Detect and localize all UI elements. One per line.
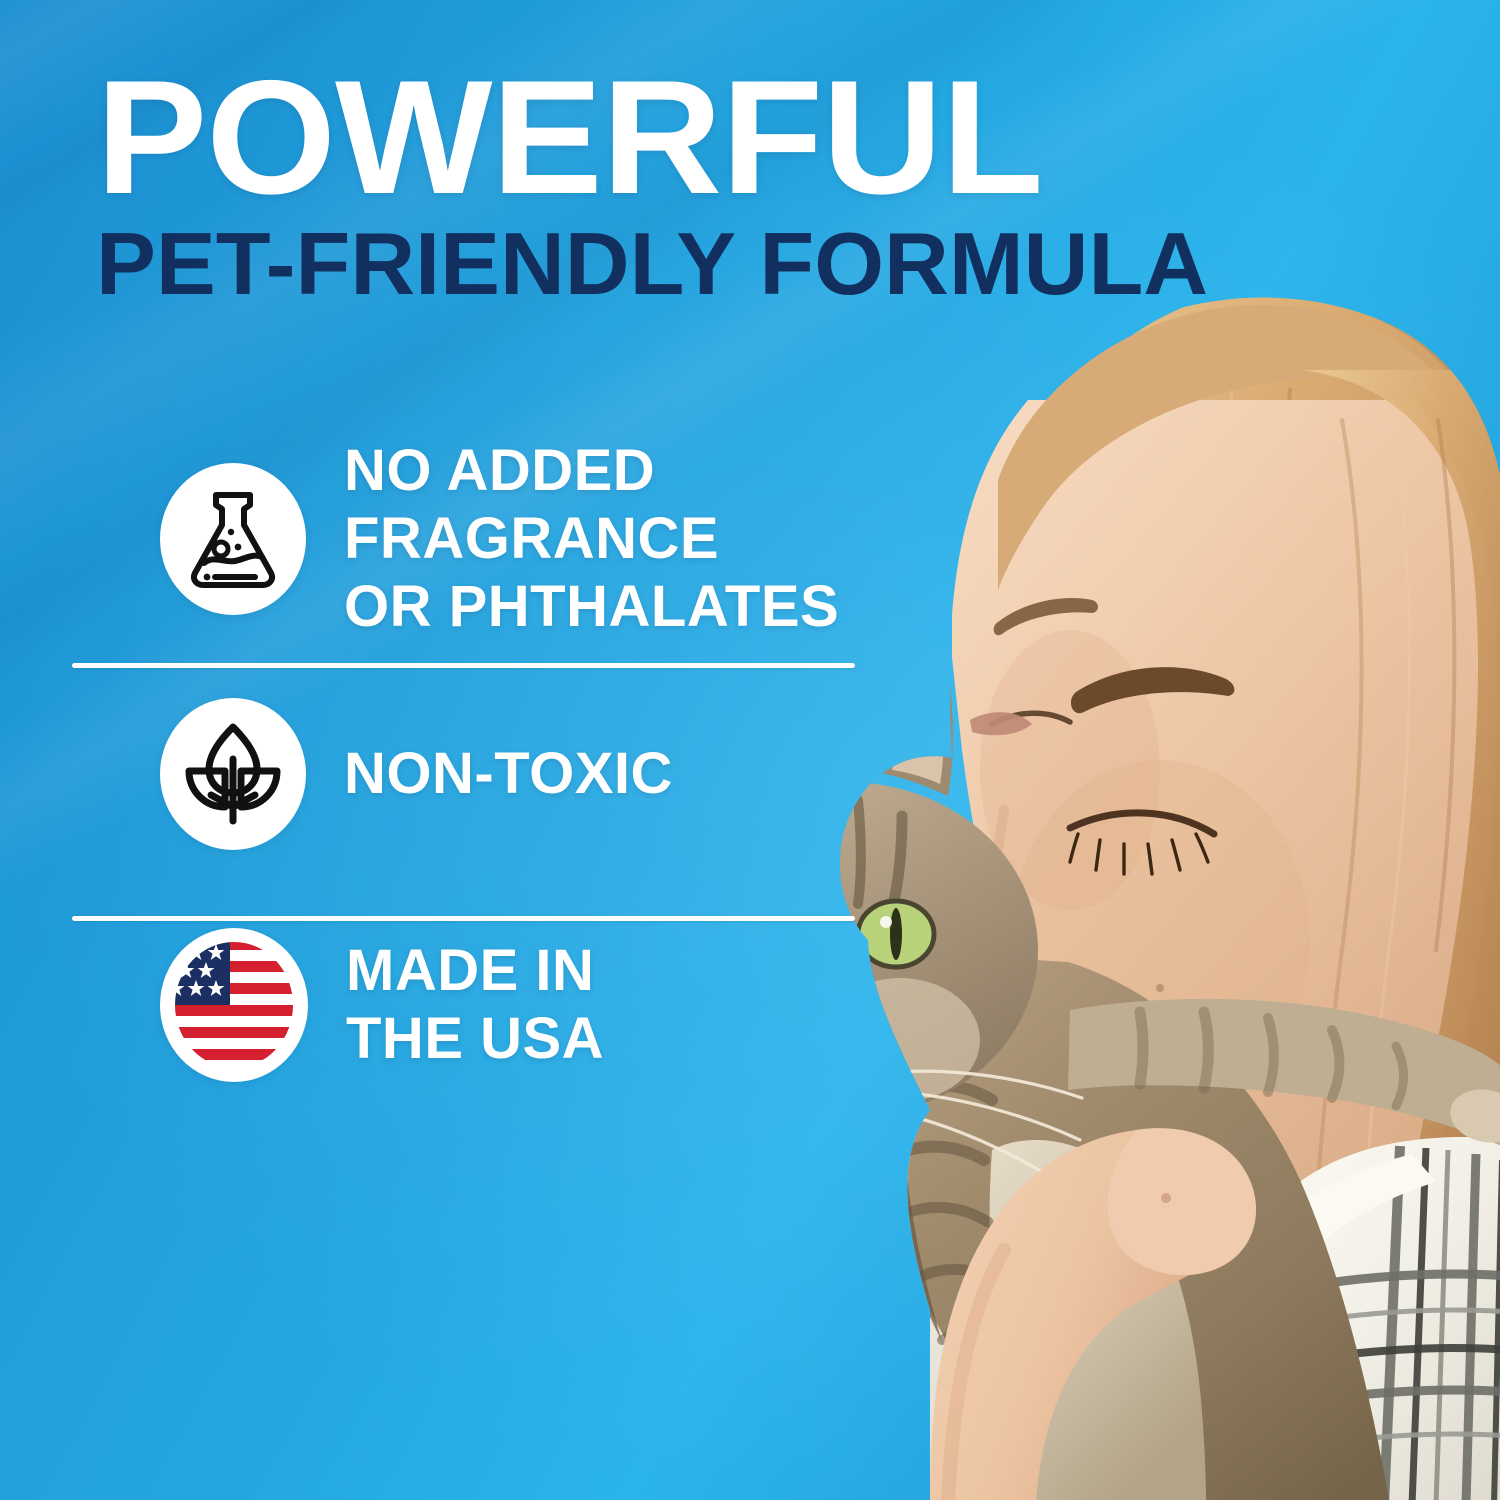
feature-label-no-added-fragrance: NO ADDED FRAGRANCE OR PHTHALATES — [344, 437, 839, 641]
feature-line: NO ADDED — [344, 437, 839, 505]
headline-block: POWERFUL PET-FRIENDLY FORMULA — [96, 62, 1296, 308]
leaf-plant-icon — [160, 698, 306, 850]
feature-item-no-added-fragrance: NO ADDED FRAGRANCE OR PHTHALATES — [72, 430, 872, 648]
page-subtitle: PET-FRIENDLY FORMULA — [96, 220, 1320, 308]
feature-list: NO ADDED FRAGRANCE OR PHTHALATES — [72, 430, 872, 1110]
feature-line: FRAGRANCE — [344, 505, 839, 573]
feature-line: THE USA — [346, 1005, 604, 1073]
page-title: POWERFUL — [96, 62, 1332, 214]
infographic-canvas: POWERFUL PET-FRIENDLY FORMULA — [0, 0, 1500, 1500]
usa-flag-icon — [160, 928, 308, 1082]
feature-label-made-in-usa: MADE IN THE USA — [346, 937, 604, 1073]
feature-line: OR PHTHALATES — [344, 573, 839, 641]
feature-label-non-toxic: NON-TOXIC — [344, 740, 673, 808]
feature-item-non-toxic: NON-TOXIC — [72, 648, 872, 900]
feature-line: NON-TOXIC — [344, 740, 673, 808]
feature-line: MADE IN — [346, 937, 604, 1005]
feature-item-made-in-usa: MADE IN THE USA — [72, 900, 872, 1110]
flask-icon — [160, 463, 306, 615]
